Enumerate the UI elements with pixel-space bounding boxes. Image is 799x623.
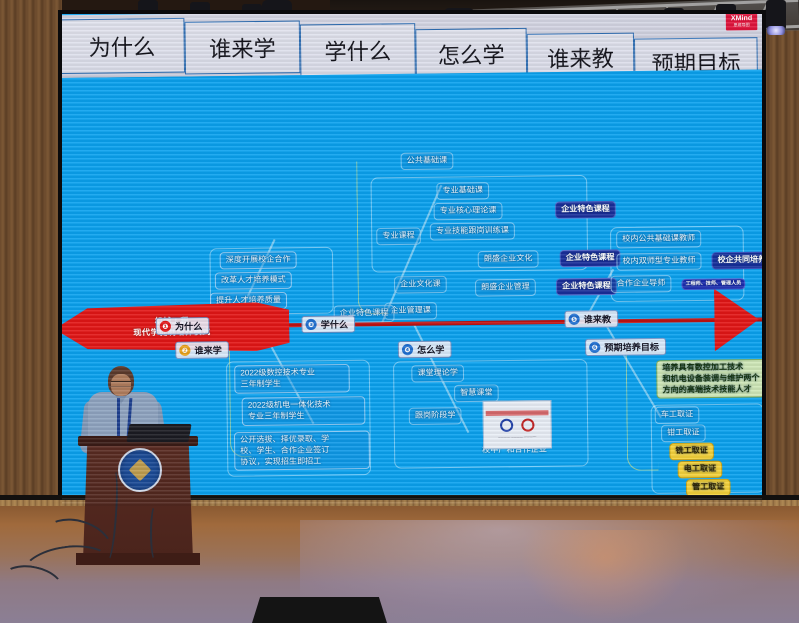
seal-blue-icon bbox=[500, 419, 513, 432]
badge-number-3: ❸ bbox=[305, 319, 316, 330]
xmind-watermark: XMind 思维导图 bbox=[726, 14, 758, 31]
floor-warm-reflection bbox=[520, 530, 690, 623]
stage-monitor-speaker bbox=[252, 597, 387, 623]
teach-node-2: 合作企业导师 bbox=[611, 275, 672, 293]
badge-number-2: ❷ bbox=[179, 345, 190, 356]
slide-header-band: 为什么 谁来学 学什么 怎么学 谁来教 预期目标 bbox=[62, 14, 762, 78]
badge-label-6: 预期培养目标 bbox=[604, 340, 659, 354]
badge-label-5: 谁来教 bbox=[584, 312, 611, 325]
podium-laptop bbox=[126, 424, 191, 442]
cert-node-1: 钳工取证 bbox=[661, 424, 706, 442]
mindmap-spine bbox=[210, 317, 762, 328]
why-node-1: 改革人才培养模式 bbox=[215, 272, 292, 290]
badge-label-2: 谁来学 bbox=[194, 343, 221, 356]
who-learns-node-0: 2022级数控技术专业 三年制学生 bbox=[234, 364, 350, 393]
branch-badge-how[interactable]: ❹ 怎么学 bbox=[398, 340, 452, 358]
cert-node-3: 电工取证 bbox=[678, 461, 723, 479]
header-cell-1: 谁来学 bbox=[184, 20, 300, 74]
public-basic-course-node: 公共基础课 bbox=[401, 152, 454, 170]
badge-label-3: 学什么 bbox=[321, 317, 348, 330]
cert-node-0: 车工取证 bbox=[655, 406, 700, 424]
teach-node-1: 校内双师型专业教师 bbox=[616, 252, 701, 270]
branch-badge-who-learns[interactable]: ❷ 谁来学 bbox=[175, 341, 229, 359]
conference-hall-photo: 为什么 谁来学 学什么 怎么学 谁来教 预期目标 XMind 思维导图 机械工程 bbox=[0, 0, 799, 623]
wall-left-wood bbox=[0, 0, 62, 520]
management-child-node: 朗盛企业管理 bbox=[475, 279, 536, 297]
major-child-0: 专业基础课 bbox=[436, 182, 489, 200]
badge-label-4: 怎么学 bbox=[417, 343, 444, 356]
cert-node-2: 铣工取证 bbox=[669, 443, 714, 461]
how-photo-node: ———— ———— ———— bbox=[483, 400, 552, 449]
how-node-2: 跟岗阶段学 bbox=[409, 407, 462, 425]
branch-badge-goals[interactable]: ❻ 预期培养目标 bbox=[585, 338, 666, 356]
teach-tag-node: 工程师、技师、管理人员 bbox=[681, 278, 745, 290]
who-learns-node-1: 2022级机电一体化技术 专业三年制学生 bbox=[242, 396, 366, 425]
badge-number-1: ❶ bbox=[160, 321, 171, 332]
teach-result-node: 校企共同培养 bbox=[711, 252, 762, 270]
who-learns-node-2: 公开选拔、择优录取、学 校、学生、合作企业签订 协议，实现招生即招工 bbox=[234, 431, 370, 472]
culture-child-node: 朗盛企业文化 bbox=[478, 250, 539, 268]
culture-course-node: 企业文化课 bbox=[394, 276, 447, 294]
podium-emblem-icon bbox=[118, 448, 162, 492]
how-node-0: 课堂理论学 bbox=[411, 365, 464, 383]
major-child-1: 专业核心理论课 bbox=[434, 202, 503, 220]
photo-lines: ———— ———— ———— bbox=[498, 435, 536, 440]
seal-red-icon bbox=[521, 418, 534, 431]
photo-title-bar bbox=[486, 410, 549, 416]
wall-right-wood bbox=[762, 0, 799, 520]
xmind-sub: 思维导图 bbox=[731, 23, 752, 28]
badge-label-1: 为什么 bbox=[175, 319, 202, 332]
goal-summary-node: 培养具有数控加工技术 和机电设备装调与维护两个 方向的高端技术技能人才 bbox=[656, 359, 762, 399]
presenter-glasses-icon bbox=[111, 381, 131, 387]
cert-node-4: 管工取证 bbox=[686, 479, 731, 497]
badge-number-5: ❺ bbox=[569, 314, 580, 325]
stage-light-icon bbox=[766, 0, 786, 30]
why-node-0: 深度开展校企合作 bbox=[220, 251, 297, 269]
feature-badge-0: 企业特色课程 bbox=[555, 201, 616, 219]
major-course-root-node: 专业课程 bbox=[376, 228, 421, 246]
header-cell-2: 学什么 bbox=[300, 23, 416, 77]
badge-number-4: ❹ bbox=[402, 344, 413, 355]
how-node-1: 智慧课堂 bbox=[454, 384, 499, 402]
feature-badge-1: 企业特色课程 bbox=[560, 249, 621, 267]
teach-node-0: 校内公共基础课教师 bbox=[616, 230, 701, 248]
feature-badge-2: 企业特色课程 bbox=[556, 278, 617, 296]
photo-seals bbox=[500, 418, 535, 432]
badge-number-6: ❻ bbox=[589, 342, 600, 353]
branch-badge-why[interactable]: ❶ 为什么 bbox=[156, 317, 210, 335]
branch-badge-who-teaches[interactable]: ❺ 谁来教 bbox=[564, 310, 618, 328]
major-child-2: 专业技能跟岗训练课 bbox=[430, 222, 515, 240]
branch-badge-what[interactable]: ❸ 学什么 bbox=[301, 315, 355, 333]
podium-cable bbox=[150, 505, 160, 561]
header-cell-0: 为什么 bbox=[62, 18, 185, 74]
